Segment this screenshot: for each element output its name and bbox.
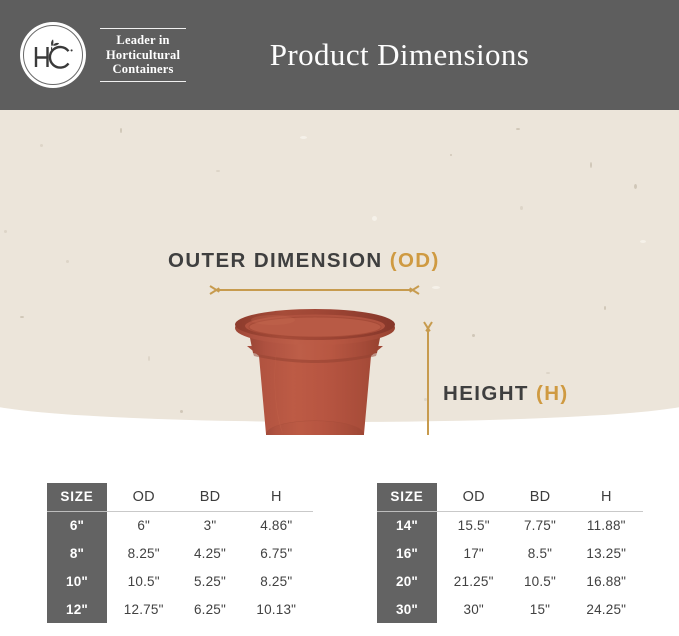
cell-h: 24.25": [570, 595, 643, 623]
cell-bd: 7.75": [510, 511, 569, 539]
table-header-row: SIZE OD BD H: [47, 483, 313, 511]
cell-od: 8.25": [107, 539, 180, 567]
cell-h: 11.88": [570, 511, 643, 539]
cell-bd: 4.25": [180, 539, 239, 567]
outer-dimension-arrow-icon: [210, 281, 419, 297]
table-row: 14" 15.5" 7.75" 11.88": [377, 511, 643, 539]
product-dimensions-infographic: Leader in Horticultural Containers Produ…: [0, 0, 679, 636]
column-header-bd: BD: [180, 483, 239, 511]
cell-h: 13.25": [570, 539, 643, 567]
table-body: 6" 6" 3" 4.86" 8" 8.25" 4.25" 6.75" 10" …: [47, 511, 313, 623]
column-header-bd: BD: [510, 483, 569, 511]
column-header-h: H: [570, 483, 643, 511]
table-body: 14" 15.5" 7.75" 11.88" 16" 17" 8.5" 13.2…: [377, 511, 643, 623]
cell-h: 6.75": [240, 539, 313, 567]
pot-rim-highlight: [251, 315, 295, 325]
cell-h: 4.86": [240, 511, 313, 539]
arrow-head-up: [422, 322, 433, 331]
cell-od: 10.5": [107, 567, 180, 595]
outer-dimension-text: OUTER DIMENSION: [168, 249, 383, 272]
size-chart-table-right: SIZE OD BD H 14" 15.5" 7.75" 11.88" 16" …: [377, 483, 643, 623]
column-header-size: SIZE: [47, 483, 107, 511]
cell-size: 30": [377, 595, 437, 623]
cell-size: 12": [47, 595, 107, 623]
height-label: HEIGHT (H): [443, 382, 569, 406]
table-row: 10" 10.5" 5.25" 8.25": [47, 567, 313, 595]
table-header-row: SIZE OD BD H: [377, 483, 643, 511]
arrow-head-right: [410, 284, 419, 295]
cell-size: 20": [377, 567, 437, 595]
cell-h: 10.13": [240, 595, 313, 623]
arrow-head-left: [210, 284, 219, 295]
cell-h: 16.88": [570, 567, 643, 595]
cell-od: 17": [437, 539, 510, 567]
header-bar: Leader in Horticultural Containers Produ…: [0, 0, 679, 110]
cell-od: 15.5": [437, 511, 510, 539]
table-row: 6" 6" 3" 4.86": [47, 511, 313, 539]
column-header-h: H: [240, 483, 313, 511]
arrow-bar: [217, 289, 412, 291]
table-header: SIZE OD BD H: [377, 483, 643, 511]
height-arrow-icon: [419, 322, 435, 435]
table-row: 12" 12.75" 6.25" 10.13": [47, 595, 313, 623]
table-header: SIZE OD BD H: [47, 483, 313, 511]
table-row: 20" 21.25" 10.5" 16.88": [377, 567, 643, 595]
outer-dimension-label: OUTER DIMENSION (OD): [168, 249, 440, 273]
page-title: Product Dimensions: [0, 0, 679, 110]
cell-size: 8": [47, 539, 107, 567]
cell-size: 14": [377, 511, 437, 539]
cell-od: 21.25": [437, 567, 510, 595]
column-header-size: SIZE: [377, 483, 437, 511]
cell-bd: 8.5": [510, 539, 569, 567]
cell-h: 8.25": [240, 567, 313, 595]
cell-size: 6": [47, 511, 107, 539]
cell-od: 6": [107, 511, 180, 539]
table-row: 8" 8.25" 4.25" 6.75": [47, 539, 313, 567]
diagram-panel: OUTER DIMENSION (OD) HEIGHT (H): [0, 110, 679, 435]
column-header-od: OD: [107, 483, 180, 511]
cell-bd: 3": [180, 511, 239, 539]
height-text: HEIGHT: [443, 382, 529, 405]
cell-size: 10": [47, 567, 107, 595]
cell-od: 12.75": [107, 595, 180, 623]
cell-bd: 15": [510, 595, 569, 623]
cell-bd: 10.5": [510, 567, 569, 595]
cell-size: 16": [377, 539, 437, 567]
arrow-bar: [427, 329, 429, 435]
cell-bd: 6.25": [180, 595, 239, 623]
outer-dimension-code: (OD): [390, 249, 440, 272]
table-row: 16" 17" 8.5" 13.25": [377, 539, 643, 567]
terracotta-planter-pot-image: [225, 308, 405, 435]
height-code: (H): [536, 382, 569, 405]
cell-bd: 5.25": [180, 567, 239, 595]
table-row: 30" 30" 15" 24.25": [377, 595, 643, 623]
size-chart-table-left: SIZE OD BD H 6" 6" 3" 4.86" 8" 8.25" 4.2…: [47, 483, 313, 623]
cell-od: 30": [437, 595, 510, 623]
column-header-od: OD: [437, 483, 510, 511]
